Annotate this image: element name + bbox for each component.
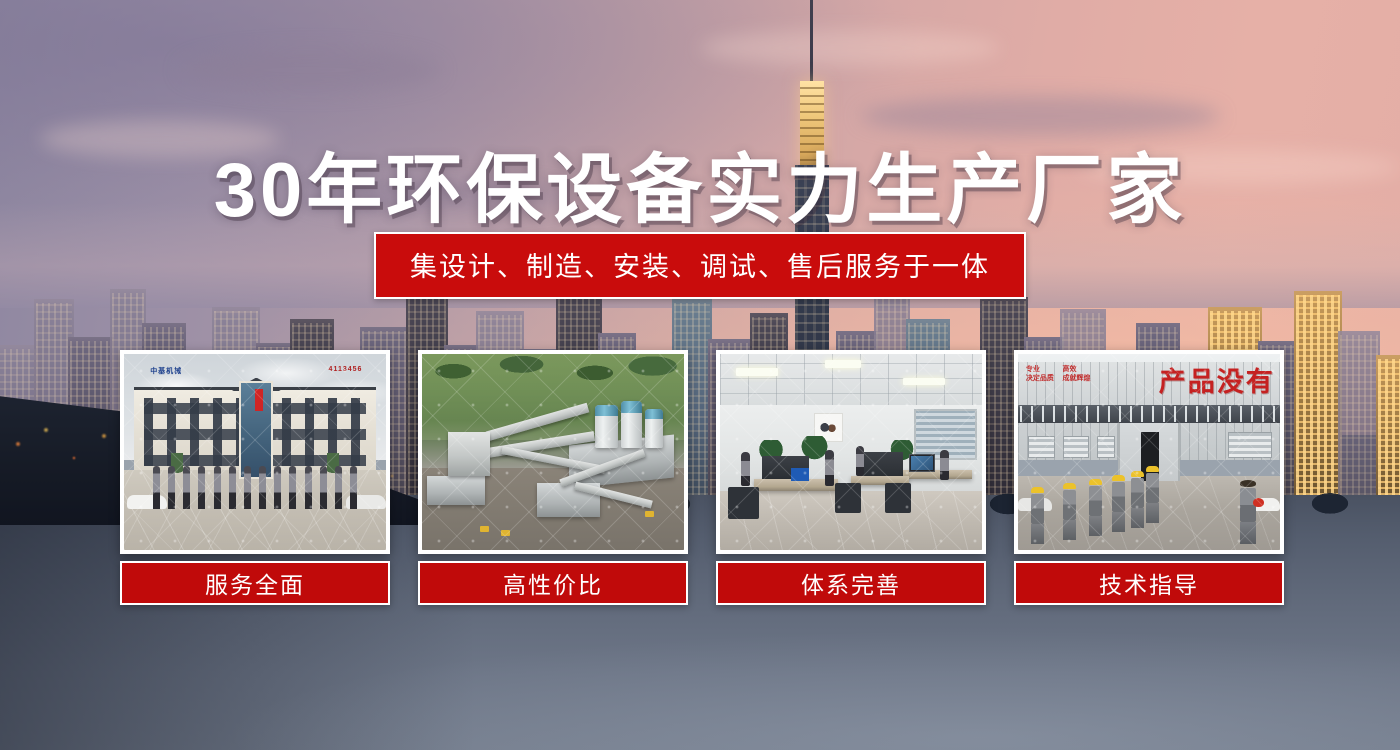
flag-icon [255,389,263,411]
promo-banner: 30年环保设备实力生产厂家 集设计、制造、安装、调试、售后服务于一体 中基机械 … [0,0,1400,750]
photo-frame: 产品没有 专业决定品质 高效成就辉煌 [1014,350,1284,554]
factory-wall-text: 产品没有 [1159,360,1275,399]
cloud [180,48,440,92]
page-title: 30年环保设备实力生产厂家 [0,128,1400,238]
building-sign-text: 中基机械 [150,366,182,376]
building-phone-text: 4113456 [329,366,363,373]
photo-company-office-building: 中基机械 4113456 [124,354,386,550]
feature-card-row: 中基机械 4113456 服务全面 [120,350,1284,605]
factory-slogan-left: 专业决定品质 [1026,366,1054,384]
photo-frame [716,350,986,554]
feature-card[interactable]: 体系完善 [716,350,986,605]
feature-card[interactable]: 中基机械 4113456 服务全面 [120,350,390,605]
feature-card[interactable]: 高性价比 [418,350,688,605]
photo-office-interior [720,354,982,550]
photo-frame [418,350,688,554]
feature-card[interactable]: 产品没有 专业决定品质 高效成就辉煌 [1014,350,1284,605]
cloud [700,30,1000,66]
subtitle-banner: 集设计、制造、安装、调试、售后服务于一体 [374,232,1026,299]
subtitle-bar-wrap: 集设计、制造、安装、调试、售后服务于一体 [0,232,1400,299]
card-caption: 高性价比 [418,561,688,605]
photo-aerial-industrial-plant [422,354,684,550]
card-caption: 服务全面 [120,561,390,605]
factory-slogan-right: 高效成就辉煌 [1063,366,1091,384]
photo-frame: 中基机械 4113456 [120,350,390,554]
card-caption: 体系完善 [716,561,986,605]
red-helmet-icon [1253,498,1264,507]
card-caption: 技术指导 [1014,561,1284,605]
photo-workers-at-factory: 产品没有 专业决定品质 高效成就辉煌 [1018,354,1280,550]
